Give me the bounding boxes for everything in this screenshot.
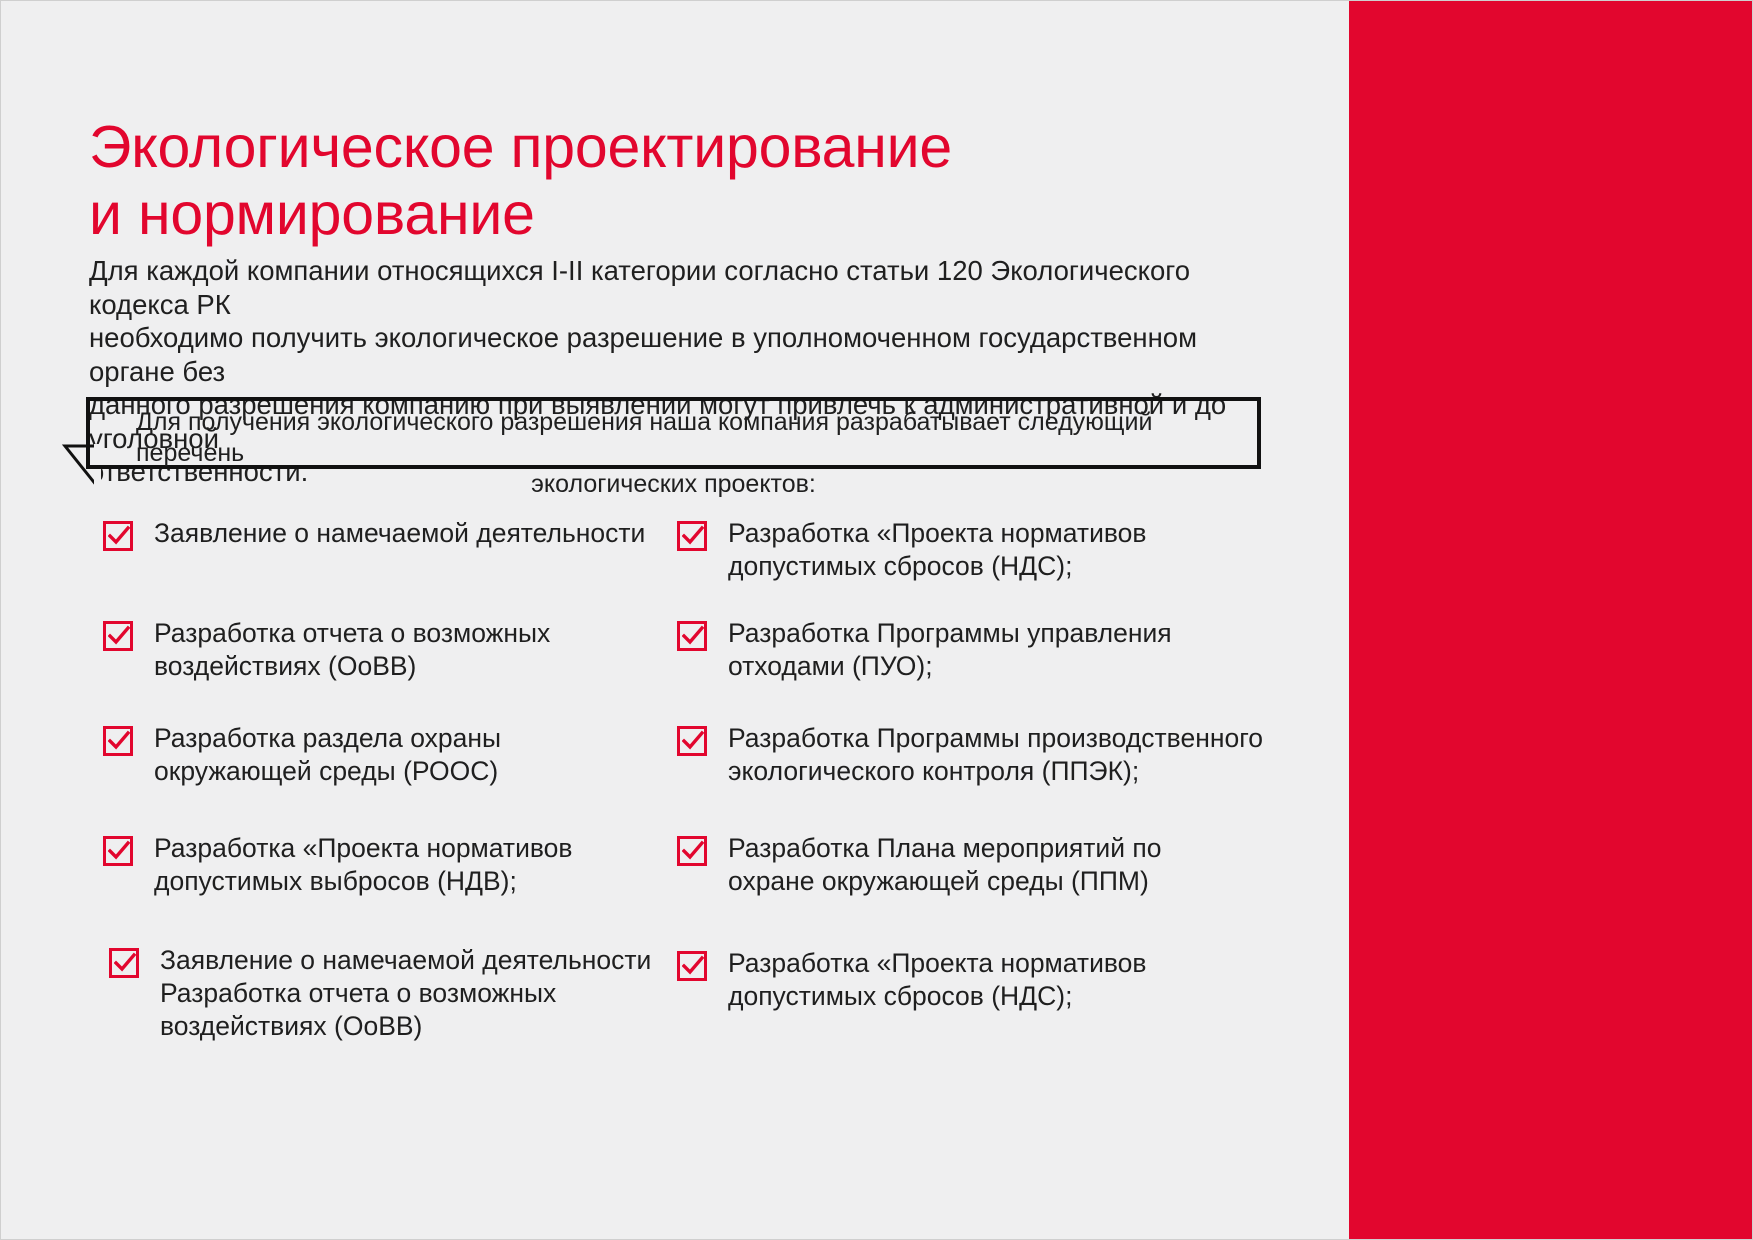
checklist-item-label: Разработка отчета о возможных воздействи… [154,617,550,683]
checkmark-icon[interactable] [103,726,133,756]
checklist-item-right-3[interactable]: Разработка Программы производственного э… [677,722,1263,788]
callout-line-2: экологических проектов: [108,469,1239,500]
page-title: Экологическое проектирование и нормирова… [89,114,1189,248]
checkmark-icon[interactable] [677,726,707,756]
checklist-item-right-5[interactable]: Разработка «Проекта нормативов допустимы… [677,947,1146,1013]
intro-line-2: необходимо получить экологическое разреш… [89,321,1249,388]
checklist-item-label: Разработка «Проекта нормативов допустимы… [154,832,572,898]
checkmark-icon[interactable] [109,948,139,978]
page-title-line-1: Экологическое проектирование [89,114,1189,181]
checklist-item-right-2[interactable]: Разработка Программы управления отходами… [677,617,1172,683]
checklist-item-label: Разработка Плана мероприятий по охране о… [728,832,1161,898]
checklist-item-label: Разработка «Проекта нормативов допустимы… [728,517,1146,583]
checklist-item-label: Заявление о намечаемой деятельности Разр… [160,944,651,1043]
callout-box: Для получения экологического разрешения … [86,397,1261,469]
checklist-item-left-1[interactable]: Заявление о намечаемой деятельности [103,517,645,551]
checkmark-icon[interactable] [677,951,707,981]
checklist-item-right-1[interactable]: Разработка «Проекта нормативов допустимы… [677,517,1146,583]
page-title-line-2: и нормирование [89,181,1189,248]
intro-line-1: Для каждой компании относящихся I-II кат… [89,254,1249,321]
checklist-item-label: Разработка Программы производственного э… [728,722,1263,788]
callout-text: Для получения экологического разрешения … [90,407,1257,500]
checkmark-icon[interactable] [677,836,707,866]
red-accent-bar [1349,1,1752,1239]
checkmark-icon[interactable] [103,836,133,866]
slide-content: Экологическое проектирование и нормирова… [1,1,1351,1239]
checkmark-icon[interactable] [103,521,133,551]
checklist-item-left-2[interactable]: Разработка отчета о возможных воздействи… [103,617,550,683]
checkmark-icon[interactable] [677,521,707,551]
checklist-item-label: Разработка «Проекта нормативов допустимы… [728,947,1146,1013]
checklist-item-left-4[interactable]: Разработка «Проекта нормативов допустимы… [103,832,572,898]
slide-canvas: Экологическое проектирование и нормирова… [0,0,1753,1240]
checklist-item-left-5[interactable]: Заявление о намечаемой деятельности Разр… [109,944,651,1043]
checklist-item-label: Разработка Программы управления отходами… [728,617,1172,683]
checklist-item-right-4[interactable]: Разработка Плана мероприятий по охране о… [677,832,1161,898]
checkmark-icon[interactable] [103,621,133,651]
checklist-item-left-3[interactable]: Разработка раздела охраны окружающей сре… [103,722,501,788]
checklist-item-label: Разработка раздела охраны окружающей сре… [154,722,501,788]
checklist-item-label: Заявление о намечаемой деятельности [154,517,645,550]
callout-bubble: Для получения экологического разрешения … [61,397,1261,473]
callout-line-1: Для получения экологического разрешения … [108,407,1239,469]
checkmark-icon[interactable] [677,621,707,651]
